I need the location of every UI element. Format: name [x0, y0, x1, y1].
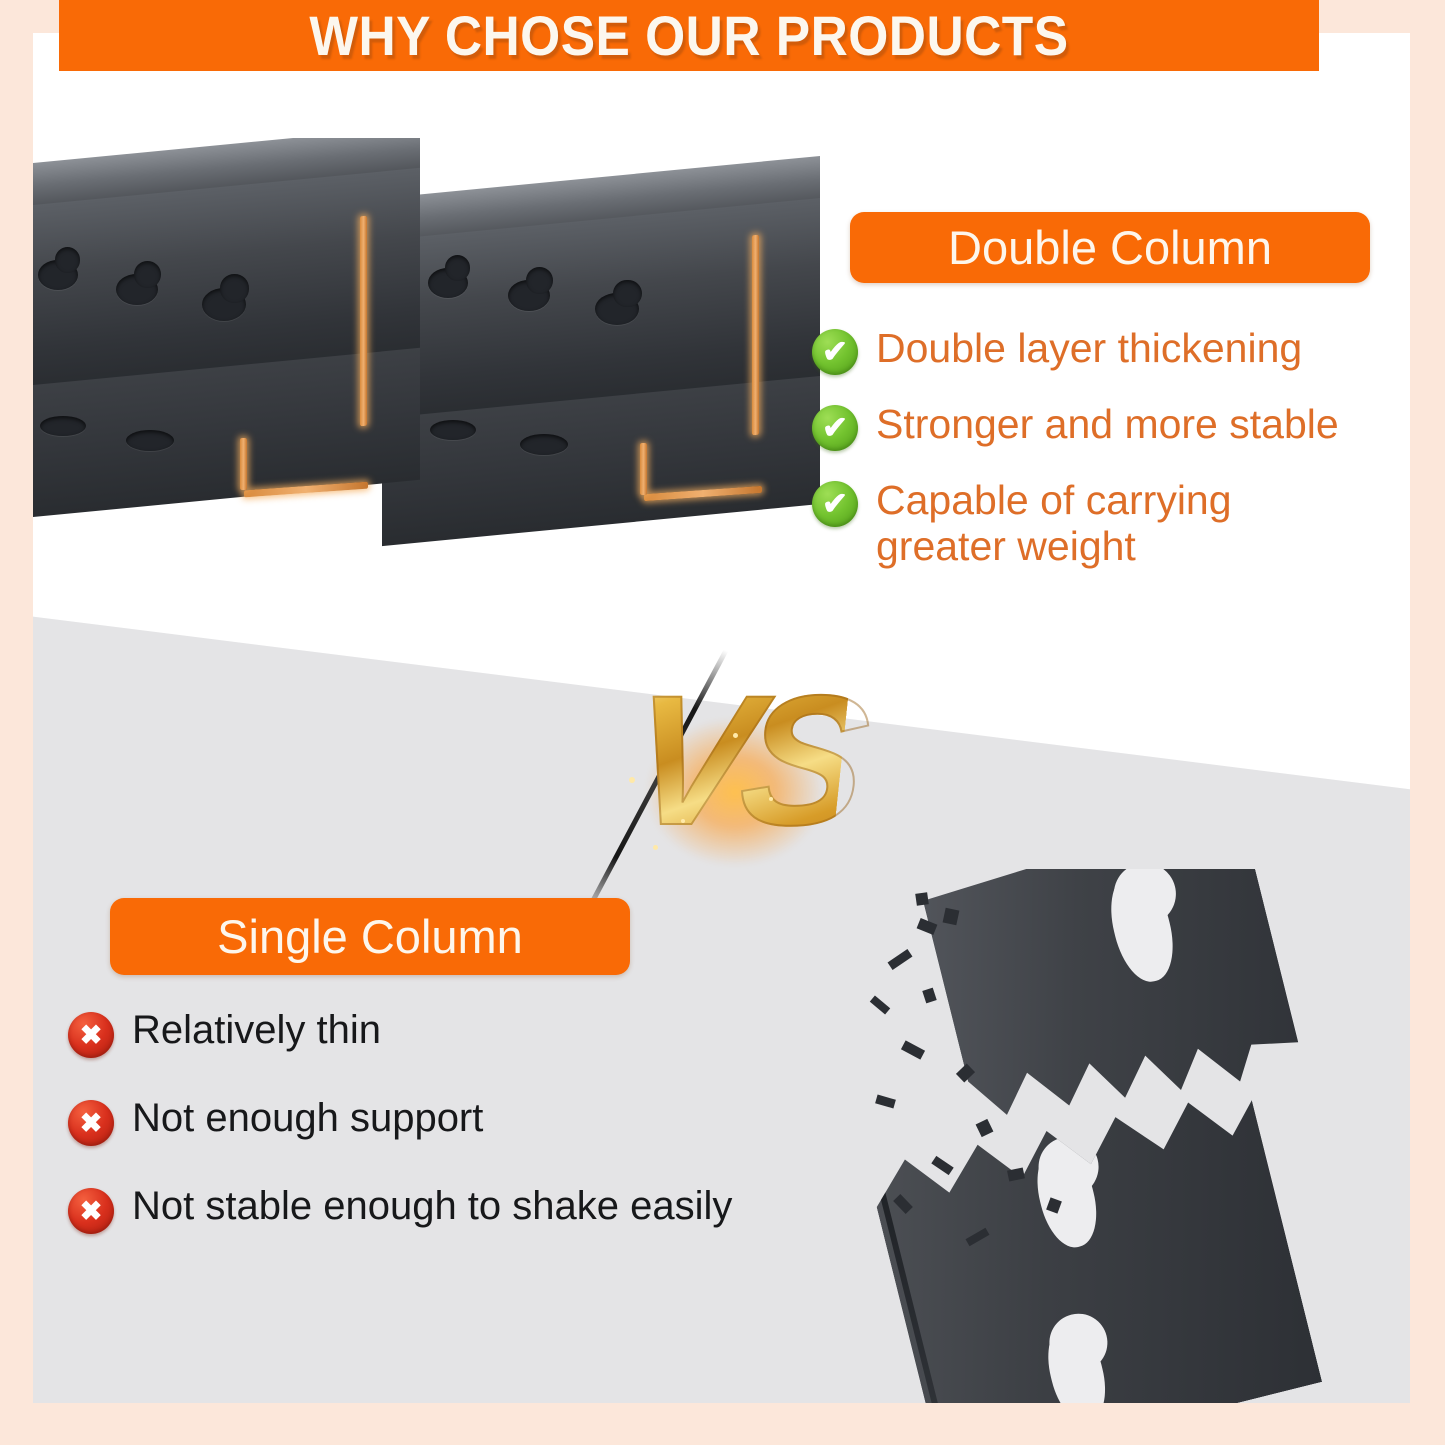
header-banner: WHY CHOSE OUR PRODUCTS [59, 0, 1319, 71]
list-item: ✔ Capable of carrying greater weight [812, 477, 1410, 570]
list-item: ✖ Relatively thin [68, 1008, 858, 1058]
check-icon: ✔ [812, 329, 858, 375]
vs-label: VS [620, 661, 852, 871]
infographic-root: VS Double Column ✔ Double layer thickeni… [0, 0, 1445, 1445]
benefit-label: Stronger and more stable [876, 401, 1339, 447]
content-card: VS Double Column ✔ Double layer thickeni… [33, 33, 1410, 1403]
cross-icon: ✖ [68, 1188, 114, 1234]
list-item: ✖ Not stable enough to shake easily [68, 1184, 858, 1234]
list-item: ✔ Double layer thickening [812, 325, 1410, 375]
benefit-label: Capable of carrying greater weight [876, 477, 1232, 570]
cross-icon: ✖ [68, 1012, 114, 1058]
list-item: ✔ Stronger and more stable [812, 401, 1410, 451]
drawback-label: Not stable enough to shake easily [132, 1184, 732, 1229]
cross-icon: ✖ [68, 1100, 114, 1146]
page-title: WHY CHOSE OUR PRODUCTS [109, 3, 1268, 68]
check-icon: ✔ [812, 481, 858, 527]
check-icon: ✔ [812, 405, 858, 451]
double-column-beams-photo [33, 138, 820, 608]
drawback-label: Not enough support [132, 1096, 483, 1141]
double-column-badge: Double Column [850, 212, 1370, 283]
broken-beam-lower-fragment [864, 1062, 1322, 1403]
drawback-label: Relatively thin [132, 1008, 381, 1053]
broken-single-column-photo [858, 869, 1410, 1403]
benefit-label: Double layer thickening [876, 325, 1302, 371]
list-item: ✖ Not enough support [68, 1096, 858, 1146]
double-column-benefits-list: ✔ Double layer thickening ✔ Stronger and… [812, 325, 1410, 596]
single-column-drawbacks-list: ✖ Relatively thin ✖ Not enough support ✖… [68, 1008, 858, 1272]
single-column-badge: Single Column [110, 898, 630, 975]
